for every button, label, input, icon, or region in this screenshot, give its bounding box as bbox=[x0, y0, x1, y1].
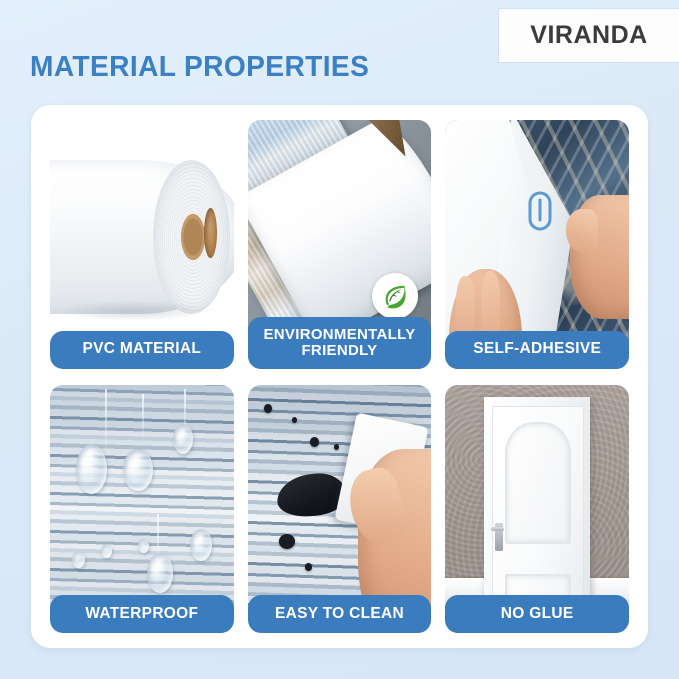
door-handle bbox=[495, 523, 503, 550]
feature-card-easy-to-clean[interactable]: EASY TO CLEAN bbox=[248, 385, 432, 634]
door-panel-top bbox=[505, 422, 571, 544]
card-label-no-glue: NO GLUE bbox=[501, 606, 574, 622]
feature-card-self-adhesive[interactable]: SELF-ADHESIVE bbox=[445, 120, 629, 369]
feature-card-environmentally-friendly[interactable]: ENVIRONMENTALLY FRIENDLY bbox=[248, 120, 432, 369]
feature-panel: PVC MATERIAL bbox=[31, 105, 648, 648]
water-droplet bbox=[190, 529, 212, 561]
card-banner-pvc-material: PVC MATERIAL bbox=[50, 331, 234, 369]
card-banner-no-glue: NO GLUE bbox=[445, 595, 629, 633]
stain-spot bbox=[310, 437, 319, 447]
water-droplet bbox=[76, 444, 107, 494]
feature-card-pvc-material[interactable]: PVC MATERIAL bbox=[50, 120, 234, 369]
stain-spot bbox=[264, 404, 271, 413]
right-hand bbox=[570, 195, 629, 319]
eco-leaf-badge bbox=[372, 273, 418, 319]
card-label-waterproof: WATERPROOF bbox=[85, 606, 198, 622]
card-banner-environmentally-friendly: ENVIRONMENTALLY FRIENDLY bbox=[248, 317, 432, 369]
stain-spot bbox=[305, 563, 312, 570]
card-label-easy-to-clean: EASY TO CLEAN bbox=[275, 606, 404, 622]
card-banner-self-adhesive: SELF-ADHESIVE bbox=[445, 331, 629, 369]
card-banner-waterproof: WATERPROOF bbox=[50, 595, 234, 633]
paperclip-icon bbox=[527, 190, 553, 237]
water-droplet bbox=[123, 449, 152, 491]
page-title: MATERIAL PROPERTIES bbox=[30, 51, 369, 84]
card-label-pvc-material: PVC MATERIAL bbox=[82, 341, 201, 357]
card-label-environmentally-friendly: ENVIRONMENTALLY FRIENDLY bbox=[263, 327, 415, 359]
pvc-roll-end bbox=[153, 160, 230, 314]
infographic-page: VIRANDA MATERIAL PROPERTIES PVC MATERIAL bbox=[0, 0, 679, 679]
brand-name: VIRANDA bbox=[530, 21, 647, 50]
door-frame bbox=[484, 397, 591, 616]
card-label-self-adhesive: SELF-ADHESIVE bbox=[473, 341, 601, 357]
card-banner-easy-to-clean: EASY TO CLEAN bbox=[248, 595, 432, 633]
leaf-icon bbox=[380, 281, 410, 311]
water-droplet bbox=[147, 553, 173, 593]
water-droplet bbox=[72, 551, 85, 568]
brand-logo-box: VIRANDA bbox=[499, 9, 679, 62]
pvc-roll-shadow bbox=[57, 301, 208, 321]
feature-card-waterproof[interactable]: WATERPROOF bbox=[50, 385, 234, 634]
white-door bbox=[492, 406, 584, 616]
stain-spot bbox=[279, 534, 296, 549]
pvc-cardboard-core bbox=[204, 208, 217, 259]
feature-grid: PVC MATERIAL bbox=[50, 120, 629, 633]
feature-card-no-glue[interactable]: NO GLUE bbox=[445, 385, 629, 634]
